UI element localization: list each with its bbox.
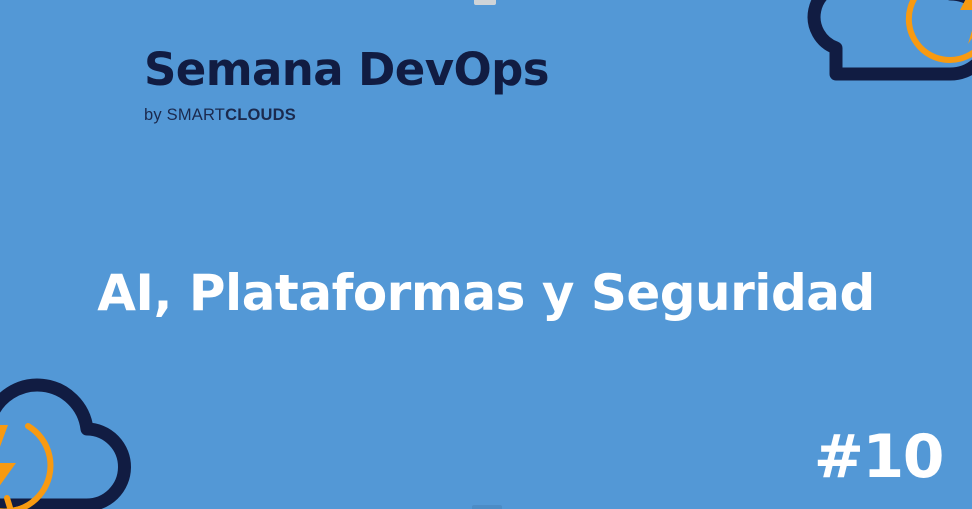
cloud-refresh-bolt-top-right xyxy=(800,0,972,108)
logo-byline-smart: SMART xyxy=(167,106,225,124)
presentation-slide: Semana DevOps by SMARTCLOUDS AI, Platafo… xyxy=(0,0,972,509)
cloud-icon xyxy=(0,385,124,505)
title-container: AI, Plataformas y Seguridad xyxy=(0,232,972,353)
refresh-circle-icon xyxy=(0,426,50,509)
cloud-icon xyxy=(814,0,972,74)
logo-wordmark: Semana DevOps xyxy=(144,46,564,93)
refresh-circle-icon xyxy=(909,0,972,60)
window-chrome-bottom-nub xyxy=(472,505,502,509)
episode-number: #10 xyxy=(814,427,943,487)
page-title: AI, Plataformas y Seguridad xyxy=(97,266,875,320)
logo-byline-clouds: CLOUDS xyxy=(225,106,296,124)
logo-byline-prefix: by xyxy=(144,106,167,124)
lightning-bolt-icon xyxy=(0,425,16,509)
refresh-arrowhead-icon xyxy=(0,432,24,509)
window-chrome-top-nub xyxy=(474,0,496,5)
lightning-bolt-icon xyxy=(960,0,972,44)
brand-logo: Semana DevOps by SMARTCLOUDS xyxy=(144,46,564,125)
logo-byline: by SMARTCLOUDS xyxy=(144,106,564,125)
cloud-refresh-bolt-bottom-left xyxy=(0,365,141,509)
